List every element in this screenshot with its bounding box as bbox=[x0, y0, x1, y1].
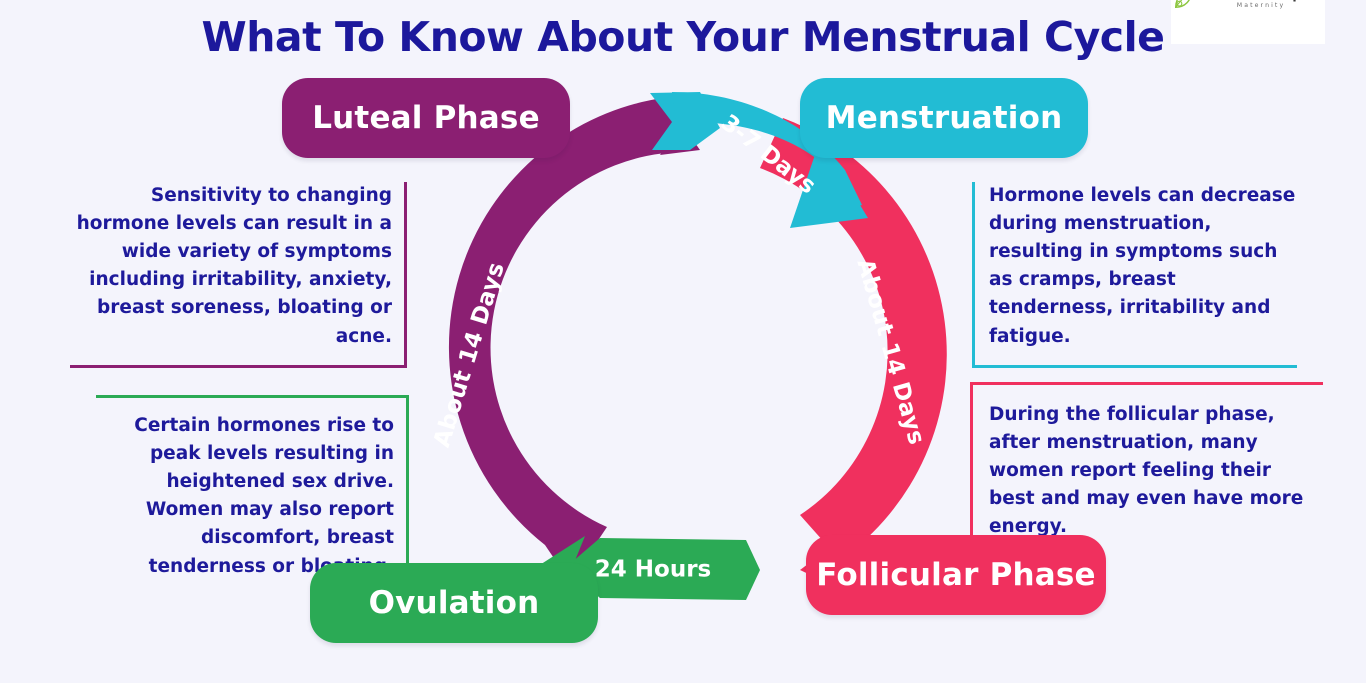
phase-label-menstruation-text: Menstruation bbox=[826, 100, 1063, 136]
phase-label-follicular-text: Follicular Phase bbox=[816, 557, 1096, 593]
description-follicular: During the follicular phase, after menst… bbox=[970, 382, 1323, 542]
duration-label-ovulation: 24 Hours bbox=[595, 557, 711, 583]
leaf-logo-icon bbox=[1173, 0, 1195, 10]
description-ovulation: Certain hormones rise to peak levels res… bbox=[96, 395, 409, 581]
description-luteal: Sensitivity to changing hormone levels c… bbox=[70, 182, 407, 368]
logo-name: MidCoast Hospital bbox=[1199, 0, 1324, 1]
phase-label-ovulation-text: Ovulation bbox=[369, 585, 540, 621]
description-menstruation-text: Hormone levels can decrease during menst… bbox=[989, 182, 1297, 351]
page-title: What To Know About Your Menstrual Cycle bbox=[202, 13, 1165, 61]
description-luteal-text: Sensitivity to changing hormone levels c… bbox=[70, 182, 392, 351]
phase-label-luteal-text: Luteal Phase bbox=[312, 100, 540, 136]
description-follicular-text: During the follicular phase, after menst… bbox=[989, 401, 1323, 542]
logo-subtitle: Maternity bbox=[1199, 3, 1324, 9]
description-menstruation: Hormone levels can decrease during menst… bbox=[972, 182, 1297, 368]
logo: MidCoast Hospital Maternity bbox=[1171, 0, 1325, 44]
phase-label-follicular[interactable]: Follicular Phase bbox=[806, 535, 1106, 615]
phase-label-luteal[interactable]: Luteal Phase bbox=[282, 78, 570, 158]
phase-label-menstruation[interactable]: Menstruation bbox=[800, 78, 1088, 158]
description-ovulation-text: Certain hormones rise to peak levels res… bbox=[96, 412, 394, 581]
header: What To Know About Your Menstrual Cycle bbox=[0, 0, 1366, 89]
phase-label-ovulation[interactable]: Ovulation bbox=[310, 563, 598, 643]
